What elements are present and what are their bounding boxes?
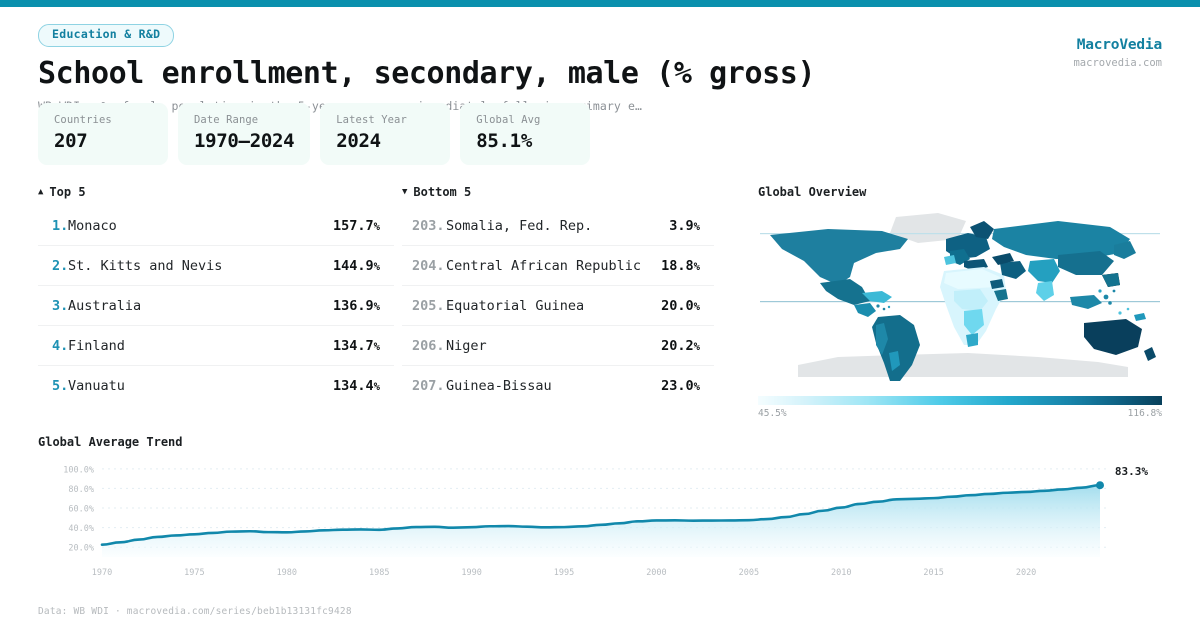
rank-value: 134.4% (333, 378, 394, 394)
svg-text:2015: 2015 (923, 568, 943, 578)
category-badge: Education & R&D (38, 24, 174, 47)
world-map[interactable] (758, 205, 1162, 390)
brand-url: macrovedia.com (1073, 57, 1162, 69)
country-name: Central African Republic (446, 258, 661, 274)
trend-panel: Global Average Trend 100.0%80.0%60.0%40.… (38, 435, 1162, 583)
map-legend-labels: 45.5% 116.8% (758, 408, 1162, 419)
table-row[interactable]: 203. Somalia, Fed. Rep. 3.9% (402, 206, 714, 246)
svg-text:2010: 2010 (831, 568, 851, 578)
stat-card-global-avg: Global Avg 85.1% (460, 103, 590, 165)
stat-label: Countries (54, 114, 152, 126)
rank-number: 207. (402, 378, 446, 394)
rank-lists: ▲ Top 5 1. Monaco 157.7% 2. St. Kitts an… (38, 185, 738, 406)
country-name: Niger (446, 338, 661, 354)
svg-text:60.0%: 60.0% (68, 505, 94, 515)
table-row[interactable]: 2. St. Kitts and Nevis 144.9% (38, 246, 394, 286)
rank-value: 3.9% (669, 218, 714, 234)
rank-value: 23.0% (661, 378, 714, 394)
bottom5-panel: ▼ Bottom 5 203. Somalia, Fed. Rep. 3.9% … (402, 185, 714, 406)
top5-heading-label: Top 5 (49, 185, 85, 199)
rank-value: 18.8% (661, 258, 714, 274)
legend-min-label: 45.5% (758, 408, 787, 419)
top-accent-bar (0, 0, 1200, 7)
stat-cards: Countries 207 Date Range 1970–2024 Lates… (38, 103, 590, 165)
country-name: Monaco (68, 218, 333, 234)
country-name: St. Kitts and Nevis (68, 258, 333, 274)
svg-text:2005: 2005 (739, 568, 759, 578)
triangle-up-icon: ▲ (38, 188, 43, 197)
stat-card-date-range: Date Range 1970–2024 (178, 103, 310, 165)
svg-text:80.0%: 80.0% (68, 485, 94, 495)
trend-title: Global Average Trend (38, 435, 1162, 449)
rank-number: 2. (38, 258, 68, 274)
map-legend-gradient (758, 396, 1162, 405)
stat-label: Date Range (194, 114, 294, 126)
svg-text:1975: 1975 (184, 568, 204, 578)
svg-text:20.0%: 20.0% (68, 544, 94, 554)
table-row[interactable]: 3. Australia 136.9% (38, 286, 394, 326)
rank-value: 144.9% (333, 258, 394, 274)
page-header: Education & R&D School enrollment, secon… (38, 23, 1162, 113)
stat-card-countries: Countries 207 (38, 103, 168, 165)
rank-number: 3. (38, 298, 68, 314)
top5-heading: ▲ Top 5 (38, 185, 394, 199)
table-row[interactable]: 207. Guinea-Bissau 23.0% (402, 366, 714, 406)
svg-text:1970: 1970 (92, 568, 112, 578)
rank-number: 205. (402, 298, 446, 314)
country-name: Finland (68, 338, 333, 354)
svg-text:2000: 2000 (646, 568, 666, 578)
svg-text:1985: 1985 (369, 568, 389, 578)
rank-number: 5. (38, 378, 68, 394)
rank-number: 206. (402, 338, 446, 354)
rank-value: 136.9% (333, 298, 394, 314)
rank-value: 134.7% (333, 338, 394, 354)
table-row[interactable]: 5. Vanuatu 134.4% (38, 366, 394, 406)
svg-text:40.0%: 40.0% (68, 524, 94, 534)
rank-value: 20.0% (661, 298, 714, 314)
country-name: Vanuatu (68, 378, 333, 394)
svg-text:83.3%: 83.3% (1115, 465, 1148, 478)
table-row[interactable]: 205. Equatorial Guinea 20.0% (402, 286, 714, 326)
rank-number: 4. (38, 338, 68, 354)
brand-block: MacroVedia macrovedia.com (1073, 37, 1162, 69)
table-row[interactable]: 1. Monaco 157.7% (38, 206, 394, 246)
stat-value: 2024 (336, 130, 434, 152)
stat-value: 1970–2024 (194, 130, 294, 152)
country-name: Guinea-Bissau (446, 378, 661, 394)
footer-source: Data: WB WDI · macrovedia.com/series/beb… (38, 606, 352, 617)
svg-text:2020: 2020 (1016, 568, 1036, 578)
svg-text:1995: 1995 (554, 568, 574, 578)
bottom5-heading-label: Bottom 5 (413, 185, 471, 199)
rank-value: 20.2% (661, 338, 714, 354)
stat-label: Global Avg (476, 114, 574, 126)
rank-number: 1. (38, 218, 68, 234)
table-row[interactable]: 4. Finland 134.7% (38, 326, 394, 366)
country-name: Australia (68, 298, 333, 314)
country-name: Equatorial Guinea (446, 298, 661, 314)
bottom5-heading: ▼ Bottom 5 (402, 185, 714, 199)
page-body: Education & R&D School enrollment, secon… (0, 7, 1200, 630)
top5-panel: ▲ Top 5 1. Monaco 157.7% 2. St. Kitts an… (38, 185, 394, 406)
legend-max-label: 116.8% (1128, 408, 1162, 419)
stat-value: 207 (54, 130, 152, 152)
table-row[interactable]: 204. Central African Republic 18.8% (402, 246, 714, 286)
svg-text:100.0%: 100.0% (63, 465, 94, 475)
map-panel: Global Overview (758, 185, 1162, 419)
country-name: Somalia, Fed. Rep. (446, 218, 669, 234)
rank-number: 204. (402, 258, 446, 274)
table-row[interactable]: 206. Niger 20.2% (402, 326, 714, 366)
trend-chart[interactable]: 100.0%80.0%60.0%40.0%20.0% 1970197519801… (38, 453, 1162, 583)
svg-text:1990: 1990 (461, 568, 481, 578)
page-title: School enrollment, secondary, male (% gr… (38, 57, 1162, 91)
stat-card-latest-year: Latest Year 2024 (320, 103, 450, 165)
svg-text:1980: 1980 (277, 568, 297, 578)
stat-value: 85.1% (476, 130, 574, 152)
triangle-down-icon: ▼ (402, 188, 407, 197)
map-title: Global Overview (758, 185, 1162, 199)
rank-value: 157.7% (333, 218, 394, 234)
rank-number: 203. (402, 218, 446, 234)
stat-label: Latest Year (336, 114, 434, 126)
brand-name: MacroVedia (1073, 37, 1162, 53)
